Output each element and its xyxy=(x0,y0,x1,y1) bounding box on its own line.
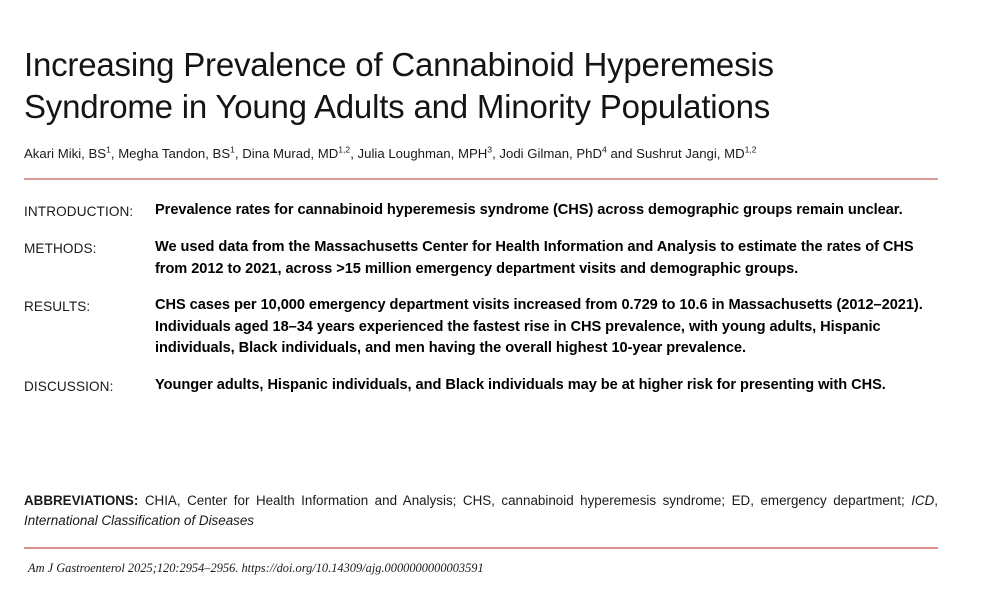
author-degree: BS xyxy=(88,146,106,161)
author-name: Dina Murad xyxy=(242,146,310,161)
author-separator: and xyxy=(607,146,636,161)
author-name: Akari Miki xyxy=(24,146,81,161)
abbreviations-heading: ABBREVIATIONS: xyxy=(24,493,138,508)
section-results: RESULTS: CHS cases per 10,000 emergency … xyxy=(24,295,938,360)
author-entry: Sushrut Jangi, MD1,2 xyxy=(636,146,756,161)
abbreviations-block: ABBREVIATIONS: CHIA, Center for Health I… xyxy=(24,491,938,531)
section-body-discussion: Younger adults, Hispanic individuals, an… xyxy=(155,375,938,397)
abbreviations-text-part-1: CHIA, Center for Health Information and … xyxy=(138,493,911,508)
section-label-methods: METHODS: xyxy=(24,237,155,259)
section-methods: METHODS: We used data from the Massachus… xyxy=(24,237,938,280)
section-body-results: CHS cases per 10,000 emergency departmen… xyxy=(155,295,938,360)
author-entry: Akari Miki, BS1 xyxy=(24,146,111,161)
abbreviations-italic-abbrev: ICD xyxy=(911,493,934,508)
divider-bottom xyxy=(24,547,938,549)
section-label-discussion: DISCUSSION: xyxy=(24,375,155,397)
section-label-results: RESULTS: xyxy=(24,295,155,317)
author-degree: BS xyxy=(213,146,231,161)
author-entry: Jodi Gilman, PhD4 xyxy=(499,146,606,161)
author-degree: MPH xyxy=(458,146,487,161)
section-introduction: INTRODUCTION: Prevalence rates for canna… xyxy=(24,200,938,222)
abstract-sections: INTRODUCTION: Prevalence rates for canna… xyxy=(24,200,938,397)
section-label-introduction: INTRODUCTION: xyxy=(24,200,155,222)
article-abstract-page: Increasing Prevalence of Cannabinoid Hyp… xyxy=(0,0,1000,593)
author-affiliation-marker: 1,2 xyxy=(745,145,757,155)
author-list: Akari Miki, BS1, Megha Tandon, BS1, Dina… xyxy=(24,145,934,162)
author-name: Sushrut Jangi xyxy=(636,146,717,161)
section-body-methods: We used data from the Massachusetts Cent… xyxy=(155,237,938,280)
title-line-2: Syndrome in Young Adults and Minority Po… xyxy=(24,88,770,125)
author-name: Jodi Gilman xyxy=(499,146,569,161)
author-name: Julia Loughman xyxy=(358,146,451,161)
author-separator: , xyxy=(350,146,357,161)
citation-line: Am J Gastroenterol 2025;120:2954–2956. h… xyxy=(28,560,942,576)
author-entry: Julia Loughman, MPH3 xyxy=(358,146,493,161)
abbreviations-italic-expansion: International Classification of Diseases xyxy=(24,513,254,528)
author-degree: PhD xyxy=(576,146,602,161)
abbreviations-text-part-2: , xyxy=(934,493,938,508)
title-line-1: Increasing Prevalence of Cannabinoid Hyp… xyxy=(24,46,774,83)
section-discussion: DISCUSSION: Younger adults, Hispanic ind… xyxy=(24,375,938,397)
divider-top xyxy=(24,178,938,180)
author-entry: Megha Tandon, BS1 xyxy=(118,146,235,161)
author-entry: Dina Murad, MD1,2 xyxy=(242,146,350,161)
author-degree: MD xyxy=(318,146,339,161)
author-degree: MD xyxy=(724,146,745,161)
author-affiliation-marker: 1,2 xyxy=(338,145,350,155)
page-title: Increasing Prevalence of Cannabinoid Hyp… xyxy=(24,44,924,128)
author-name: Megha Tandon xyxy=(118,146,205,161)
section-body-introduction: Prevalence rates for cannabinoid hyperem… xyxy=(155,200,938,222)
